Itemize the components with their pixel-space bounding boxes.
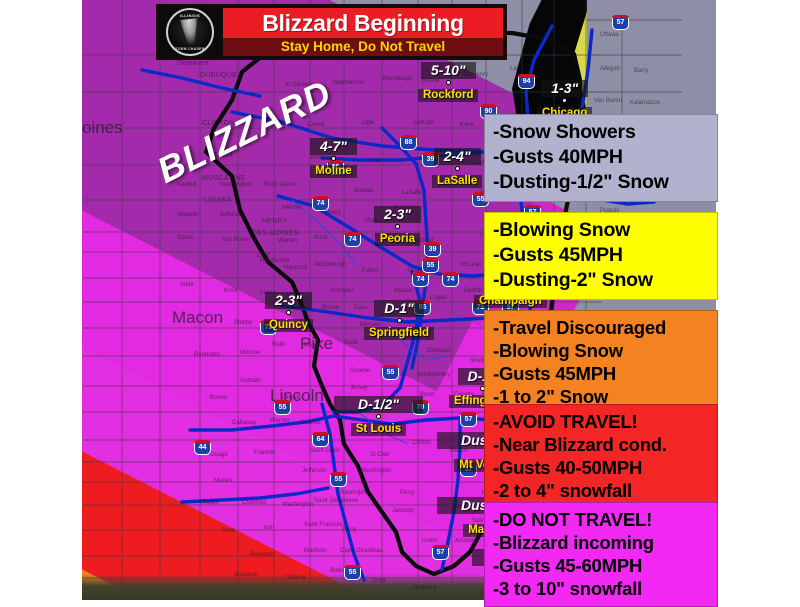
interstate-shield-icon: 74: [312, 196, 329, 211]
interstate-shield-icon: 55: [274, 400, 291, 415]
interstate-shield-icon: 55: [382, 365, 399, 380]
city-dot-icon: [455, 166, 460, 171]
interstate-shield-icon: 74: [344, 232, 361, 247]
legend-panel-do-not-travel[interactable]: -DO NOT TRAVEL!-Blizzard incoming-Gusts …: [484, 502, 718, 607]
city-marker[interactable]: D-1"Springfield: [364, 300, 434, 341]
city-marker[interactable]: 5-10"Rockford: [418, 62, 478, 103]
legend-line: -2 to 4" snowfall: [493, 479, 709, 502]
interstate-shield-icon: 74: [412, 272, 429, 287]
interstate-shield-icon: 57: [432, 545, 449, 560]
logo-bottom-text: STORM CHASERS: [168, 47, 212, 51]
city-snowfall-amount: 1-3": [541, 80, 588, 97]
city-snowfall-amount: 5-10": [421, 62, 476, 79]
page-title: Blizzard Beginning: [223, 8, 503, 38]
interstate-shield-icon: 94: [518, 74, 535, 89]
interstate-shield-icon: 55: [344, 565, 361, 580]
city-marker[interactable]: D-1/2"St Louis: [334, 396, 423, 437]
illinois-storm-chasers-logo: ILLINOIS STORM CHASERS: [159, 7, 221, 57]
city-name-label: Peoria: [375, 233, 420, 246]
legend-panel-blowing-snow[interactable]: -Blowing Snow-Gusts 45MPH-Dusting-2" Sno…: [484, 212, 718, 300]
city-dot-icon: [395, 224, 400, 229]
interstate-shield-icon: 64: [312, 432, 329, 447]
page-subtitle: Stay Home, Do Not Travel: [223, 38, 503, 56]
legend-line: -Gusts 45MPH: [493, 243, 709, 268]
interstate-shield-icon: 44: [194, 440, 211, 455]
city-name-label: LaSalle: [432, 175, 482, 188]
city-snowfall-amount: 2-3": [265, 292, 312, 309]
legend-line: -Dusting-2" Snow: [493, 268, 709, 293]
city-dot-icon: [446, 80, 451, 85]
logo-top-text: ILLINOIS: [168, 13, 212, 18]
legend-line: -Gusts 40MPH: [493, 145, 709, 170]
legend-line: -Gusts 45-60MPH: [493, 554, 709, 577]
logo-circle: ILLINOIS STORM CHASERS: [166, 8, 214, 56]
city-dot-icon: [397, 318, 402, 323]
city-name-label: Rockford: [418, 89, 478, 102]
city-dot-icon: [286, 310, 291, 315]
legend-line: -Blizzard incoming: [493, 531, 709, 554]
legend-line: -3 to 10" snowfall: [493, 577, 709, 600]
city-snowfall-amount: 2-3": [374, 206, 421, 223]
legend-line: -Blowing Snow: [493, 339, 709, 362]
city-marker[interactable]: 2-3"Peoria: [374, 206, 421, 247]
legend-line: -Dusting-1/2" Snow: [493, 170, 709, 195]
legend-line: -Gusts 40-50MPH: [493, 456, 709, 479]
interstate-shield-icon: 55: [330, 472, 347, 487]
title-text-block: Blizzard Beginning Stay Home, Do Not Tra…: [223, 8, 503, 56]
city-dot-icon: [331, 156, 336, 161]
city-snowfall-amount: 2-4": [434, 148, 481, 165]
title-banner: ILLINOIS STORM CHASERS Blizzard Beginnin…: [157, 5, 506, 59]
interstate-shield-icon: 74: [442, 272, 459, 287]
interstate-shield-icon: 39: [424, 242, 441, 257]
legend-panel-snow-showers[interactable]: -Snow Showers-Gusts 40MPH-Dusting-1/2" S…: [484, 114, 718, 202]
legend-line: -Snow Showers: [493, 120, 709, 145]
legend-line: -Gusts 45MPH: [493, 362, 709, 385]
interstate-shield-icon: 88: [400, 135, 417, 150]
city-snowfall-amount: D-1/2": [334, 396, 423, 413]
legend-panel-avoid-travel[interactable]: -AVOID TRAVEL!-Near Blizzard cond.-Gusts…: [484, 404, 718, 509]
city-snowfall-amount: D-1": [374, 300, 423, 317]
tornado-funnel-icon: [179, 18, 202, 46]
legend-line: -Blowing Snow: [493, 218, 709, 243]
interstate-shield-icon: 57: [460, 412, 477, 427]
legend-line: -DO NOT TRAVEL!: [493, 508, 709, 531]
city-marker[interactable]: 2-4"LaSalle: [432, 148, 482, 189]
city-name-label: St Louis: [351, 423, 406, 436]
legend-line: -AVOID TRAVEL!: [493, 410, 709, 433]
city-dot-icon: [376, 414, 381, 419]
interstate-shield-icon: 57: [612, 15, 629, 30]
city-snowfall-amount: 4-7": [310, 138, 357, 155]
city-name-label: Springfield: [364, 327, 434, 340]
city-name-label: Quincy: [264, 319, 313, 332]
city-dot-icon: [562, 98, 567, 103]
city-marker[interactable]: 2-3"Quincy: [264, 292, 313, 333]
city-name-label: Moline: [310, 165, 356, 178]
weather-map-graphic: DUBUQUEDelawareJo DaviessStephensonWinne…: [0, 0, 800, 600]
interstate-shield-icon: 55: [422, 258, 439, 273]
legend-line: -Near Blizzard cond.: [493, 433, 709, 456]
legend-panel-travel-discouraged[interactable]: -Travel Discouraged-Blowing Snow-Gusts 4…: [484, 310, 718, 415]
city-marker[interactable]: 4-7"Moline: [310, 138, 357, 179]
legend-line: -Travel Discouraged: [493, 316, 709, 339]
